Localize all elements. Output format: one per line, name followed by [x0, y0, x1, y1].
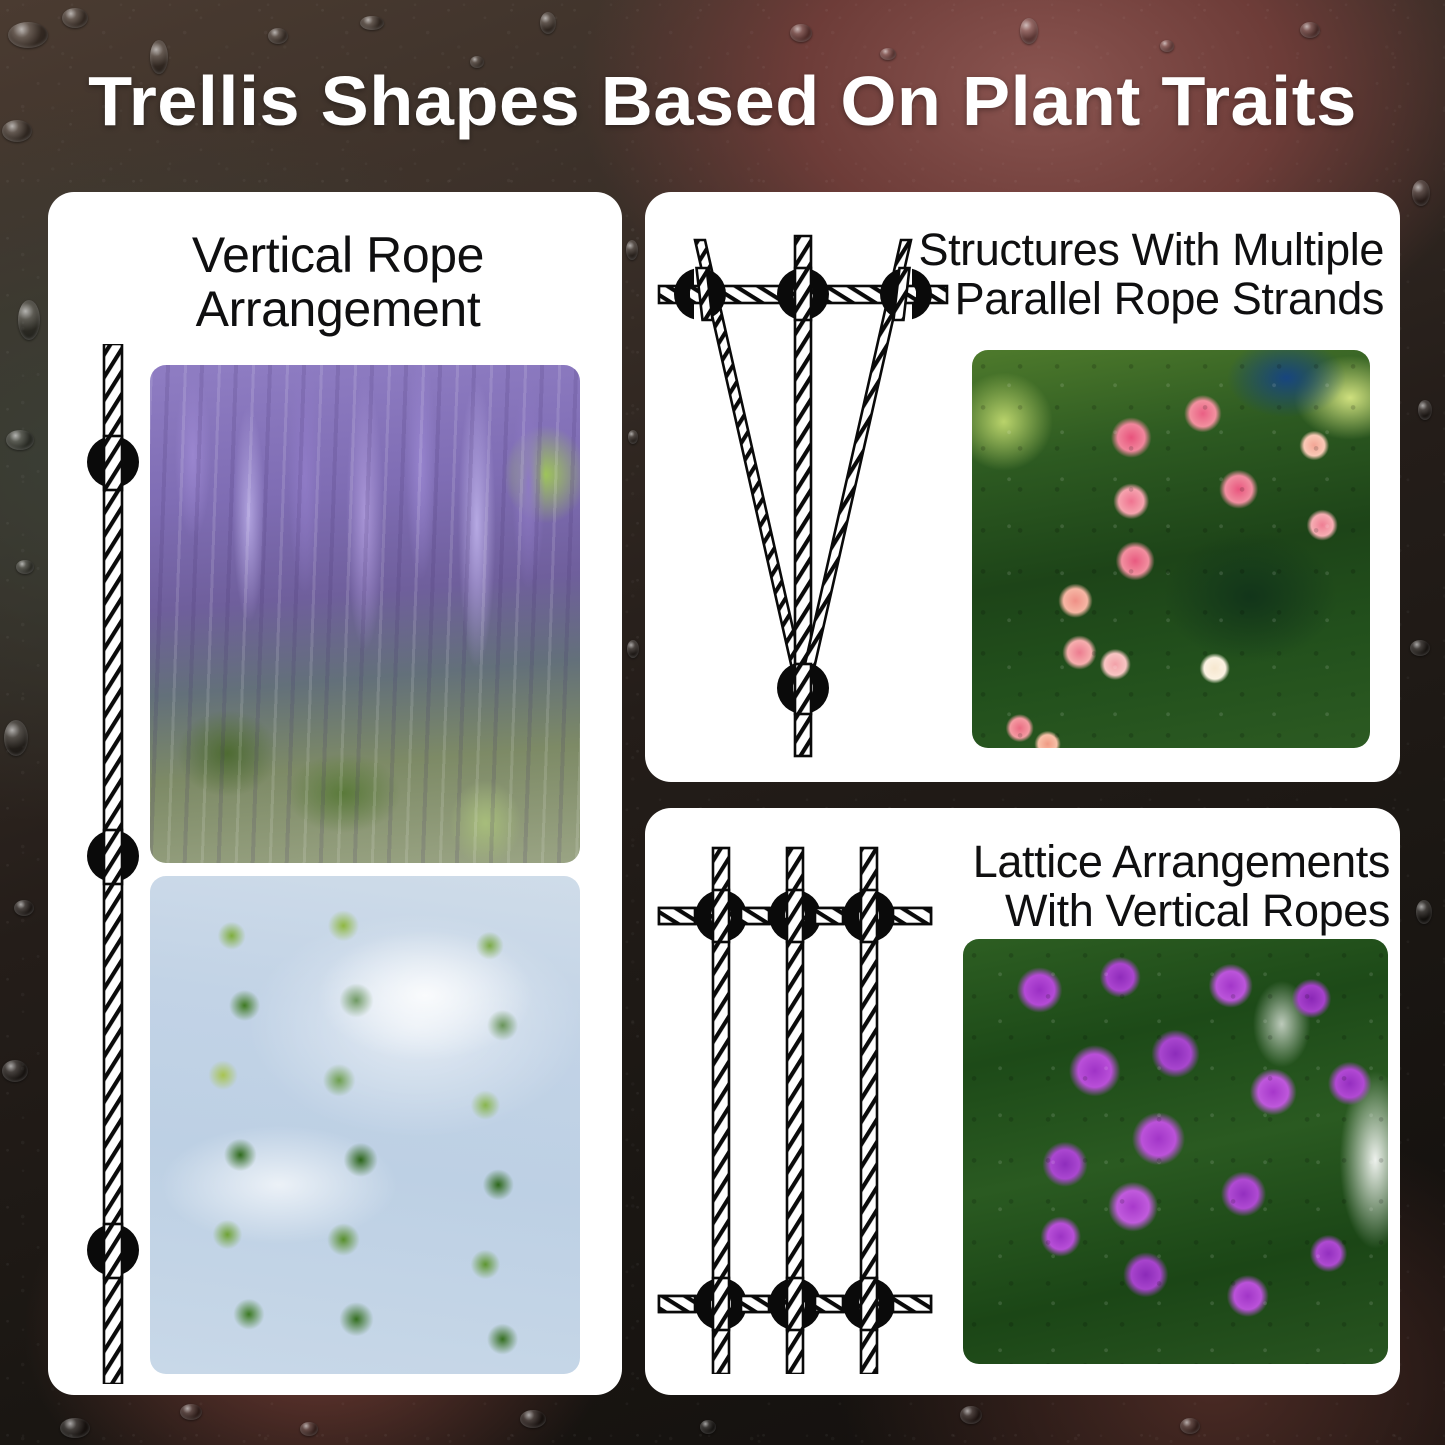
water-droplet	[700, 1420, 716, 1434]
water-droplet	[62, 8, 88, 28]
water-droplet	[180, 1404, 202, 1420]
panel-multiple-parallel-strands: Structures With Multiple Parallel Rope S…	[645, 192, 1400, 782]
water-droplet	[1160, 40, 1174, 52]
water-droplet	[18, 300, 40, 340]
water-droplet	[60, 1418, 90, 1438]
converging-rope-fan-diagram	[653, 218, 953, 758]
water-droplet	[8, 22, 48, 48]
water-droplet	[1412, 180, 1430, 206]
water-droplet	[1300, 22, 1320, 38]
climbing-roses-photo	[972, 350, 1370, 748]
water-droplet	[268, 28, 288, 44]
panel-lattice-vertical-ropes: Lattice Arrangements With Vertical Ropes	[645, 808, 1400, 1395]
water-droplet	[16, 560, 34, 574]
water-droplet	[4, 720, 28, 756]
water-droplet	[628, 430, 638, 444]
water-droplet	[6, 430, 34, 450]
lattice-rope-diagram	[645, 830, 945, 1374]
wisteria-photo	[150, 365, 580, 863]
water-droplet	[1410, 640, 1430, 656]
water-droplet	[360, 16, 384, 30]
water-droplet	[520, 1410, 546, 1428]
water-droplet	[1418, 400, 1432, 420]
water-droplet	[626, 240, 638, 260]
water-droplet	[2, 1060, 28, 1082]
panel-title-multiple-parallel-strands: Structures With Multiple Parallel Rope S…	[884, 226, 1384, 323]
water-droplet	[14, 900, 34, 916]
panel-vertical-rope: Vertical Rope Arrangement	[48, 192, 622, 1395]
water-droplet	[1416, 900, 1432, 924]
climbing-vine-photo	[150, 876, 580, 1374]
water-droplet	[540, 12, 556, 34]
clematis-photo	[963, 939, 1388, 1364]
vertical-rope-diagram	[80, 344, 146, 1384]
page-title: Trellis Shapes Based On Plant Traits	[0, 62, 1445, 140]
water-droplet	[1180, 1418, 1200, 1434]
panel-title-vertical-rope: Vertical Rope Arrangement	[88, 228, 588, 336]
water-droplet	[790, 24, 812, 42]
water-droplet	[880, 48, 896, 60]
water-droplet	[960, 1406, 982, 1424]
water-droplet	[627, 640, 639, 658]
panel-title-lattice-vertical-ropes: Lattice Arrangements With Vertical Ropes	[870, 838, 1390, 935]
water-droplet	[1020, 18, 1038, 44]
water-droplet	[300, 1422, 318, 1436]
